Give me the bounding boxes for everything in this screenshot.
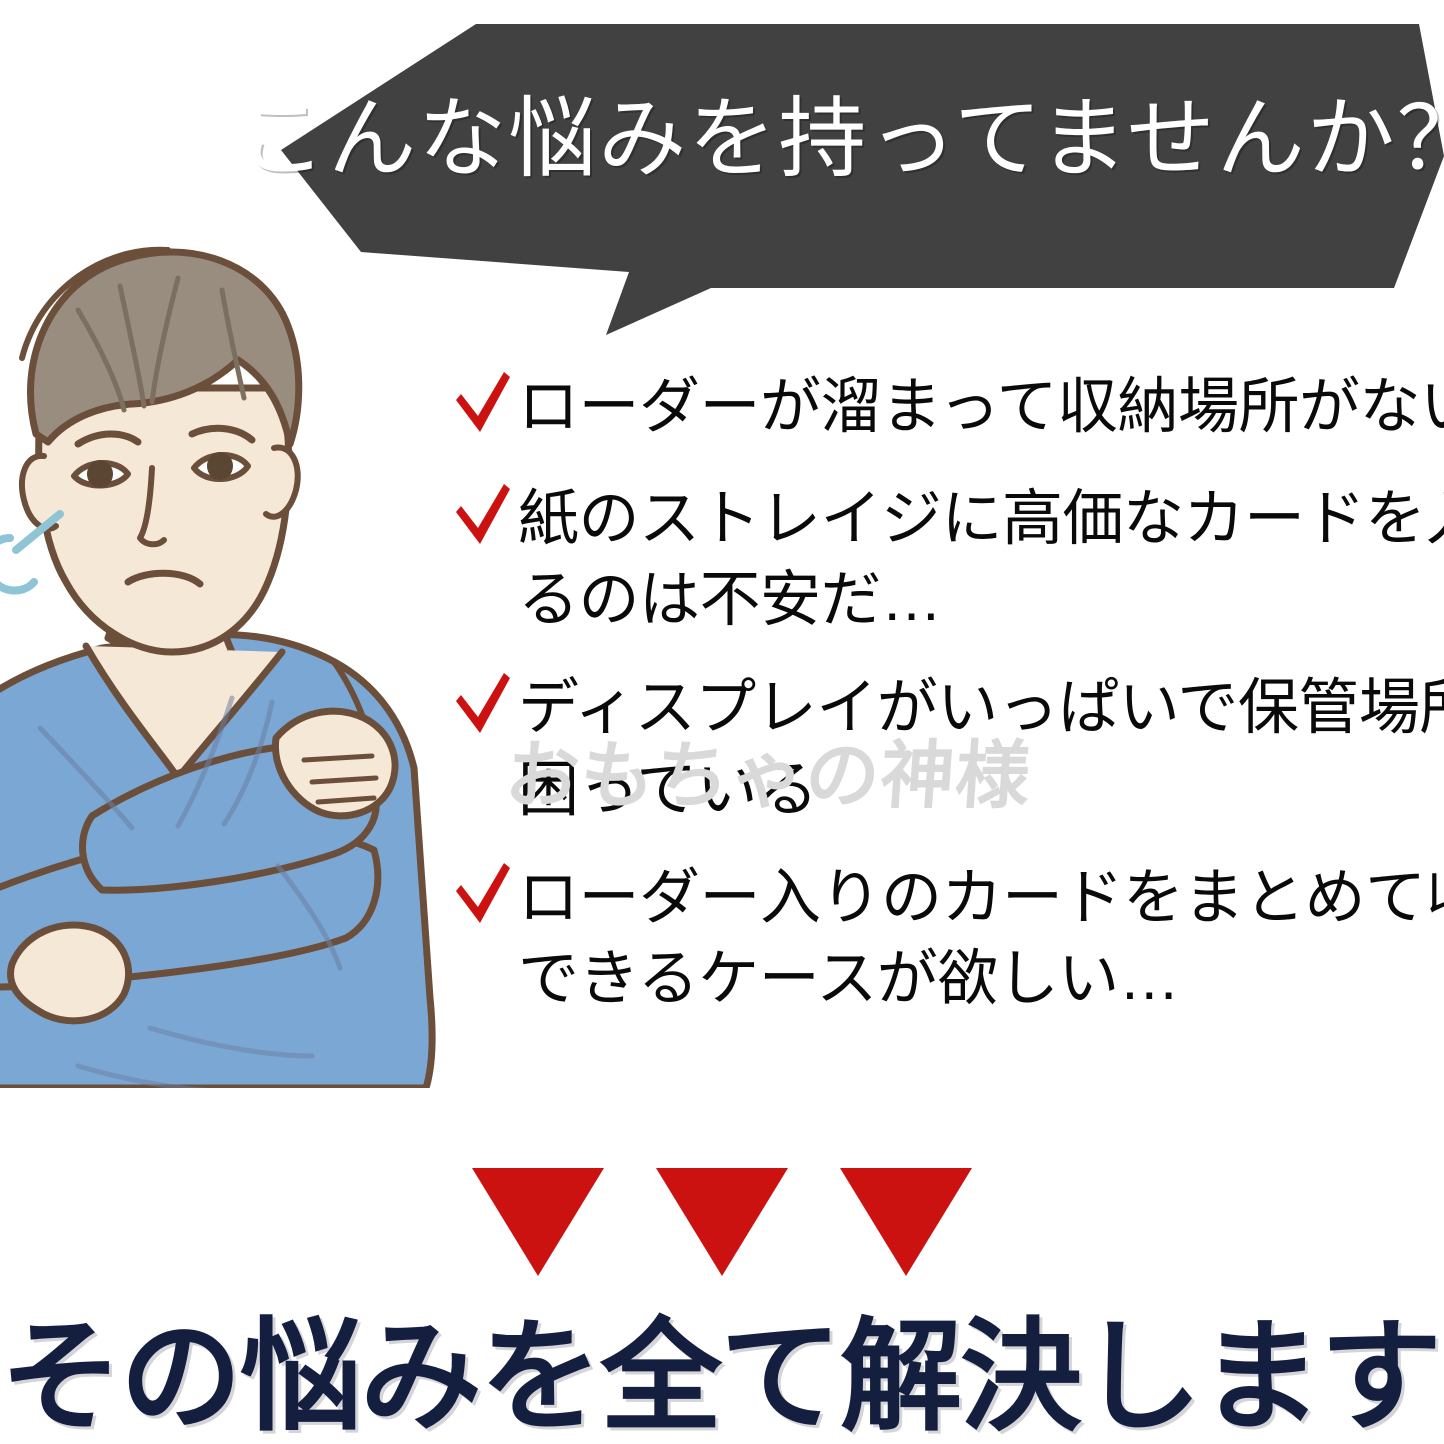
- down-arrow-icon-glyph: [472, 1168, 604, 1276]
- list-item-text-cont: できるケースが欲しい…: [452, 938, 1444, 1020]
- list-item: ディスプレイがいっぱいで保管場所に 困っている: [452, 667, 1444, 830]
- check-icon: [452, 482, 514, 548]
- down-arrow-icon-glyph: [656, 1168, 788, 1276]
- worried-man-figure: [0, 238, 452, 1088]
- check-icon: [452, 861, 514, 927]
- list-item-text: ローダーが溜まって収納場所がない: [452, 366, 1444, 448]
- list-item-text: 紙のストレイジに高価なカードを入れ: [452, 478, 1444, 560]
- speech-bubble-shape: [281, 0, 1444, 335]
- list-item-text-cont: 困っている: [452, 749, 1444, 831]
- down-arrow-icon: [472, 1168, 604, 1276]
- list-item: 紙のストレイジに高価なカードを入れ るのは不安だ…: [452, 478, 1444, 641]
- list-item: ローダー入りのカードをまとめて収納 できるケースが欲しい…: [452, 857, 1444, 1020]
- check-icon-glyph: [452, 861, 514, 927]
- list-item: ローダーが溜まって収納場所がない: [452, 366, 1444, 448]
- check-icon-glyph: [452, 482, 514, 548]
- down-arrow-icon-glyph: [840, 1168, 972, 1276]
- check-icon-glyph: [452, 370, 514, 436]
- list-item-text: ディスプレイがいっぱいで保管場所に: [452, 667, 1444, 749]
- bottom-headline-text: その悩みを全て解決します！: [0, 1316, 1444, 1438]
- poster-canvas: こんな悩みを持ってませんか？: [0, 0, 1444, 1444]
- down-arrow-icon: [656, 1168, 788, 1276]
- list-item-text: ローダー入りのカードをまとめて収納: [452, 857, 1444, 939]
- list-item-text-cont: るのは不安だ…: [452, 559, 1444, 641]
- pain-point-checklist: ローダーが溜まって収納場所がない 紙のストレイジに高価なカードを入れ るのは不安…: [452, 366, 1444, 1020]
- check-icon: [452, 370, 514, 436]
- bottom-headline: その悩みを全て解決します！: [0, 1316, 1444, 1438]
- speech-bubble: こんな悩みを持ってませんか？: [281, 0, 1444, 335]
- check-icon-glyph: [452, 671, 514, 737]
- down-arrow-icon: [840, 1168, 972, 1276]
- person-illustration: [0, 238, 452, 1088]
- down-arrow-group: [0, 1168, 1444, 1276]
- check-icon: [452, 671, 514, 737]
